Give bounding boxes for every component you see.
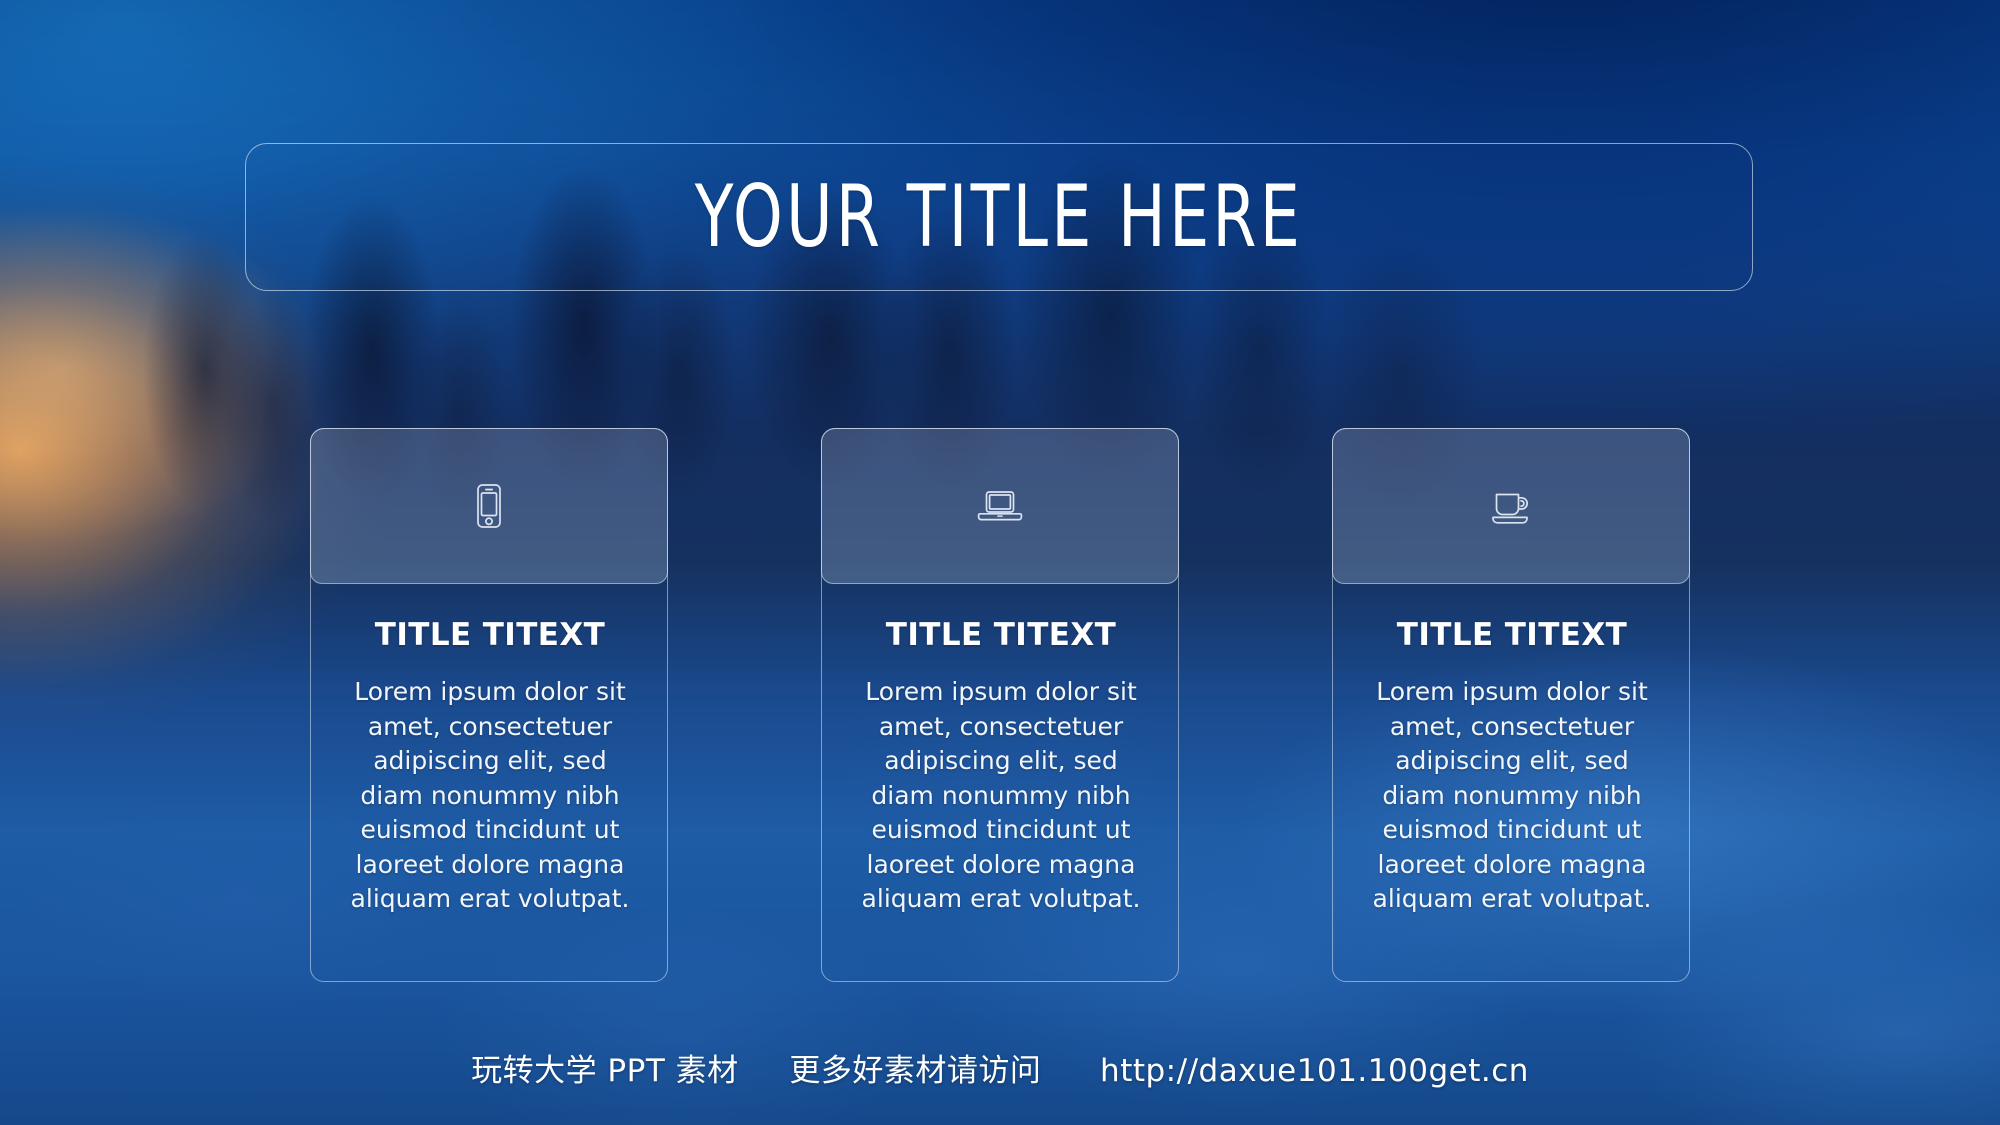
card-title: TITLE TITEXT <box>1333 617 1691 653</box>
card-icon-panel <box>310 428 668 584</box>
card-title: TITLE TITEXT <box>822 617 1180 653</box>
smartphone-icon <box>461 478 517 534</box>
card-icon-panel <box>821 428 1179 584</box>
card-description: Lorem ipsum dolor sit amet, consectetuer… <box>1372 675 1652 917</box>
coffee-cup-icon <box>1483 478 1539 534</box>
footer-label: 玩转大学 PPT 素材 <box>471 1045 739 1090</box>
feature-card-row: TITLE TITEXT Lorem ipsum dolor sit amet,… <box>310 428 1690 988</box>
footer-credit: 玩转大学 PPT 素材 更多好素材请访问 http://daxue101.100… <box>0 1045 2000 1090</box>
card-body: TITLE TITEXT Lorem ipsum dolor sit amet,… <box>1333 585 1691 917</box>
feature-card[interactable]: TITLE TITEXT Lorem ipsum dolor sit amet,… <box>1332 428 1690 982</box>
card-icon-panel <box>1332 428 1690 584</box>
card-body: TITLE TITEXT Lorem ipsum dolor sit amet,… <box>311 585 669 917</box>
title-frame: YOUR TITLE HERE <box>245 143 1753 291</box>
card-description: Lorem ipsum dolor sit amet, consectetuer… <box>861 675 1141 917</box>
page-title: YOUR TITLE HERE <box>695 167 1303 267</box>
card-title: TITLE TITEXT <box>311 617 669 653</box>
feature-card[interactable]: TITLE TITEXT Lorem ipsum dolor sit amet,… <box>310 428 668 982</box>
footer-note: 更多好素材请访问 <box>789 1045 1041 1090</box>
card-description: Lorem ipsum dolor sit amet, consectetuer… <box>350 675 630 917</box>
laptop-icon <box>972 478 1028 534</box>
card-body: TITLE TITEXT Lorem ipsum dolor sit amet,… <box>822 585 1180 917</box>
presentation-slide: YOUR TITLE HERE TITLE TITEXT Lorem ipsum… <box>0 0 2000 1125</box>
feature-card[interactable]: TITLE TITEXT Lorem ipsum dolor sit amet,… <box>821 428 1179 982</box>
footer-url[interactable]: http://daxue101.100get.cn <box>1100 1053 1529 1089</box>
